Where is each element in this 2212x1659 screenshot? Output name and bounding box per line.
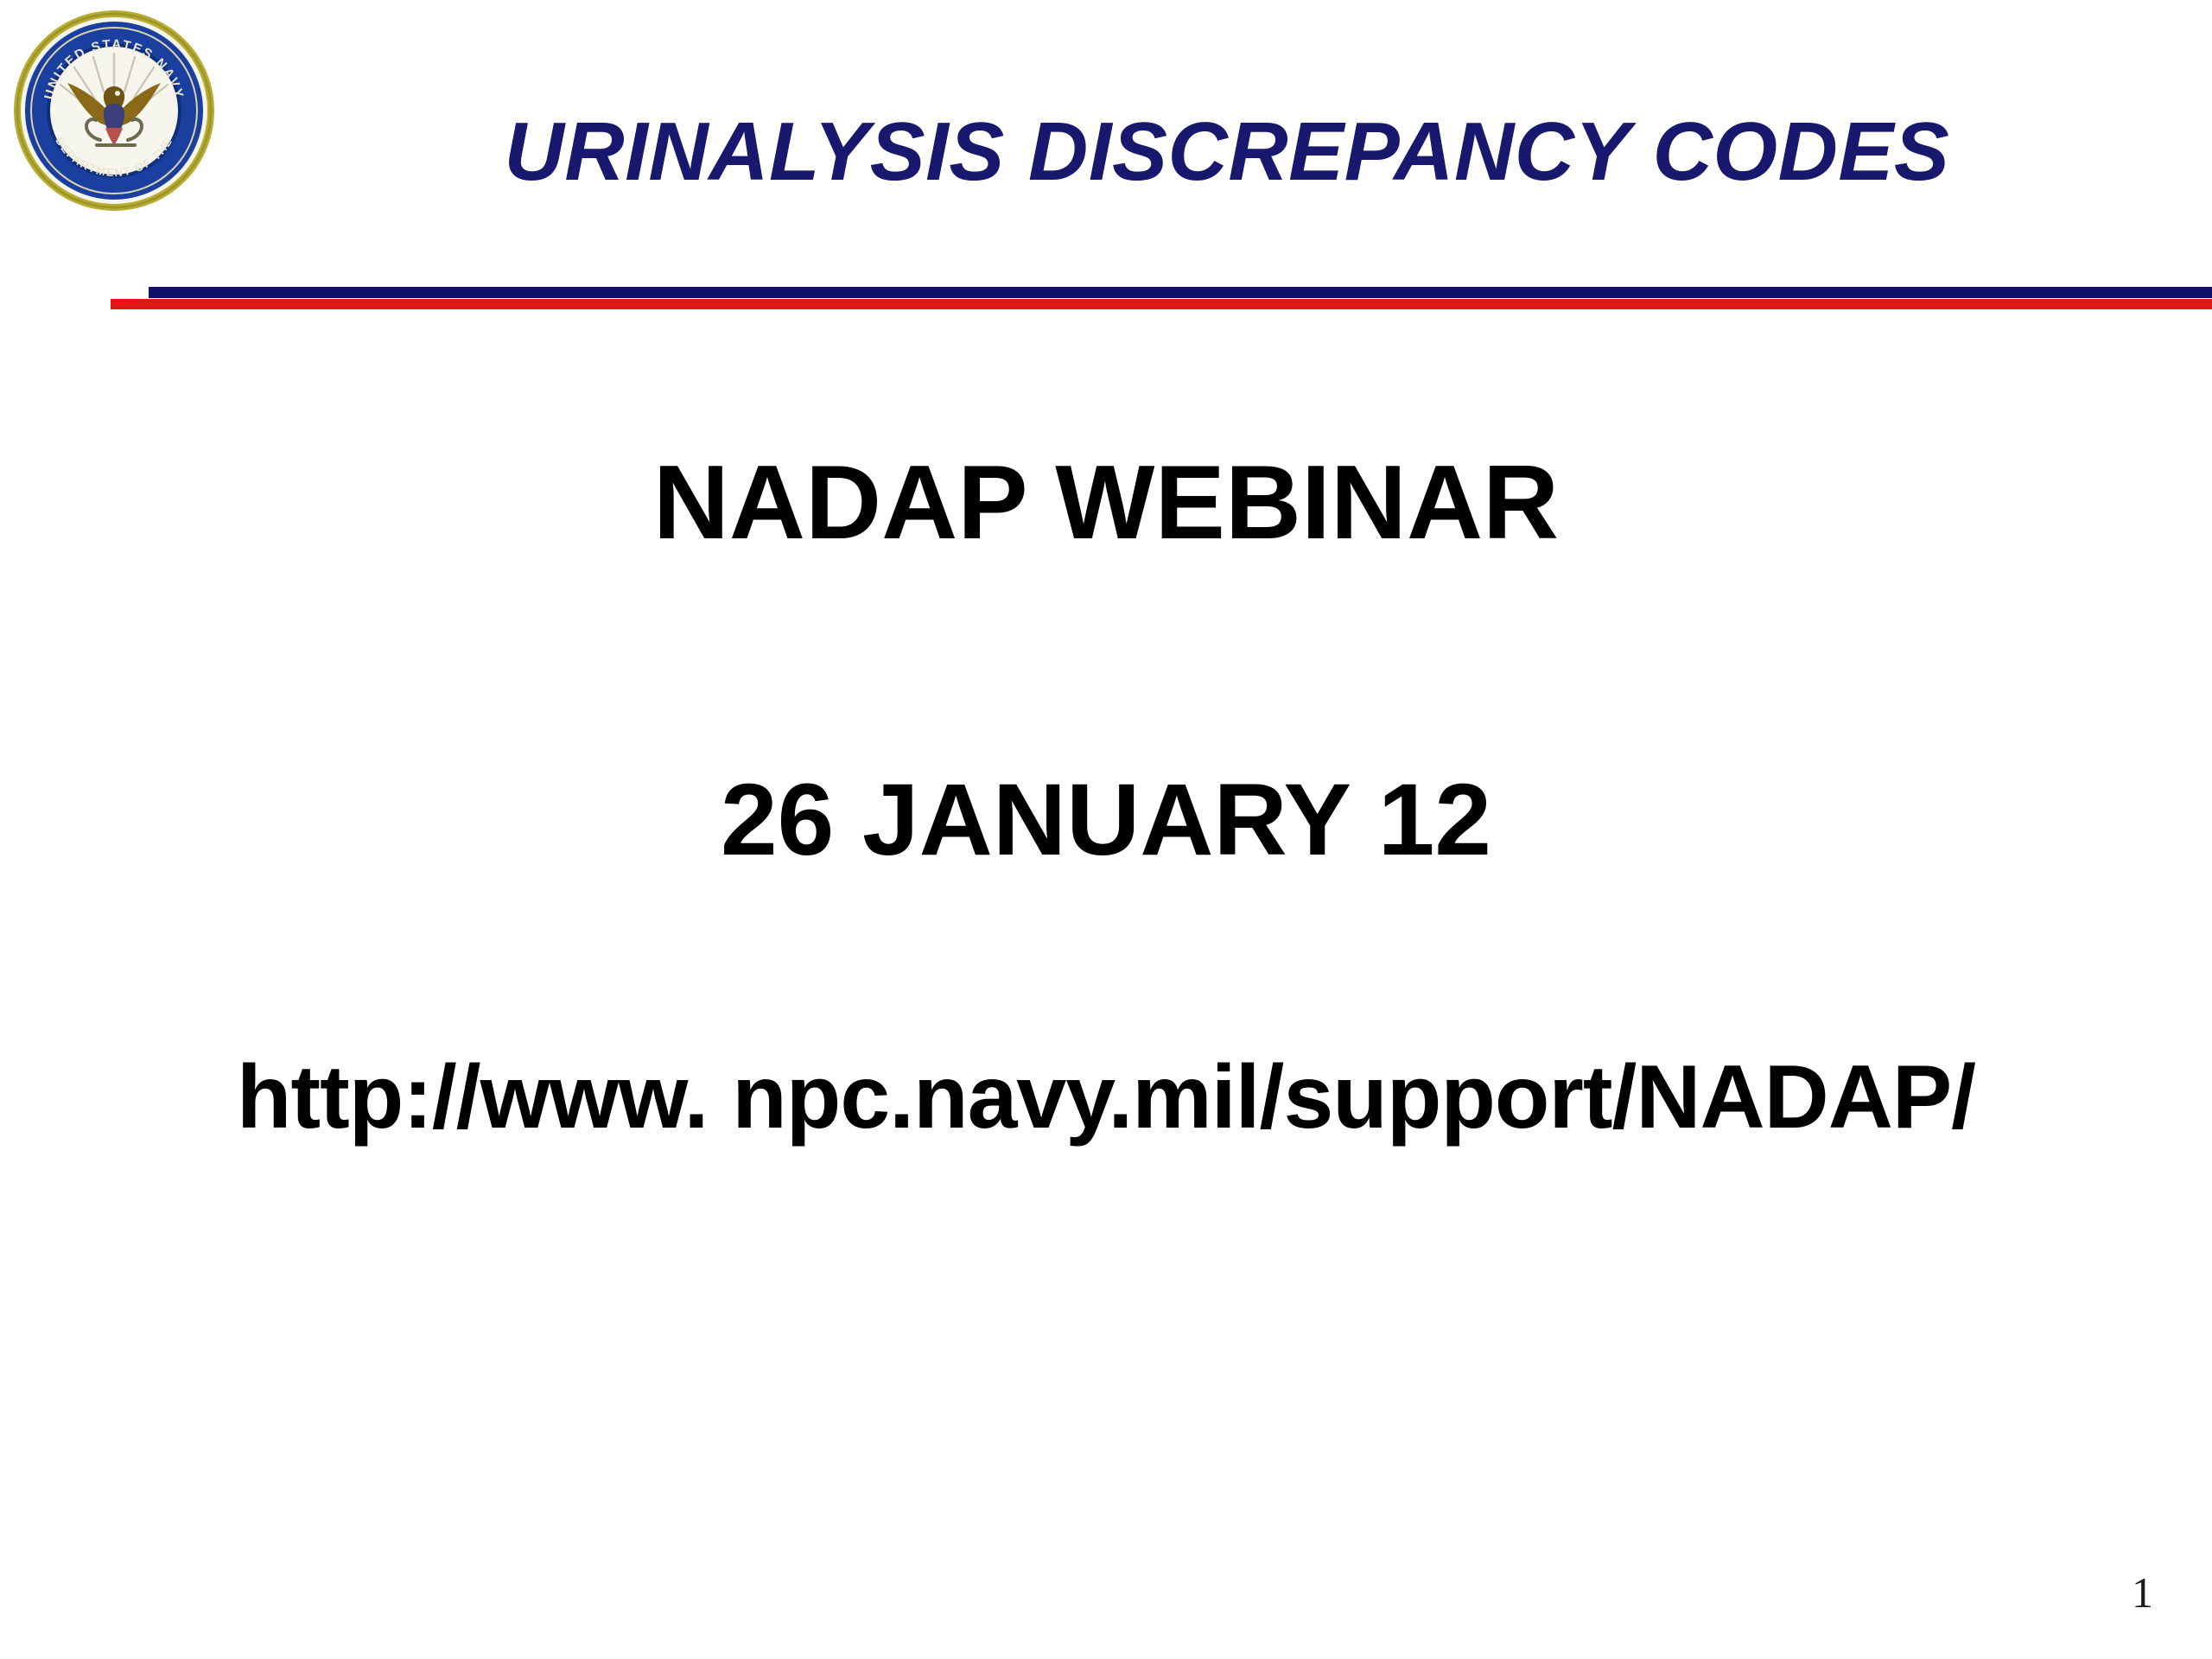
slide-canvas: UNITED STATES NAVY DEPARTMENT OF THE: [0, 0, 2212, 1659]
slide-title: URINALYSIS DISCREPANCY CODES: [259, 109, 2195, 196]
divider-rule-red: [111, 299, 2212, 309]
body-date: 26 JANUARY 12: [0, 769, 2212, 871]
us-navy-seal-logo: UNITED STATES NAVY DEPARTMENT OF THE: [10, 7, 218, 214]
divider-rule-navy: [149, 287, 2212, 298]
body-heading: NADAP WEBINAR: [0, 449, 2212, 555]
page-number: 1: [2132, 1567, 2153, 1618]
body-url[interactable]: http://www. npc.navy.mil/support/NADAP/: [0, 1052, 2212, 1142]
navy-seal-icon: UNITED STATES NAVY DEPARTMENT OF THE: [10, 7, 218, 214]
